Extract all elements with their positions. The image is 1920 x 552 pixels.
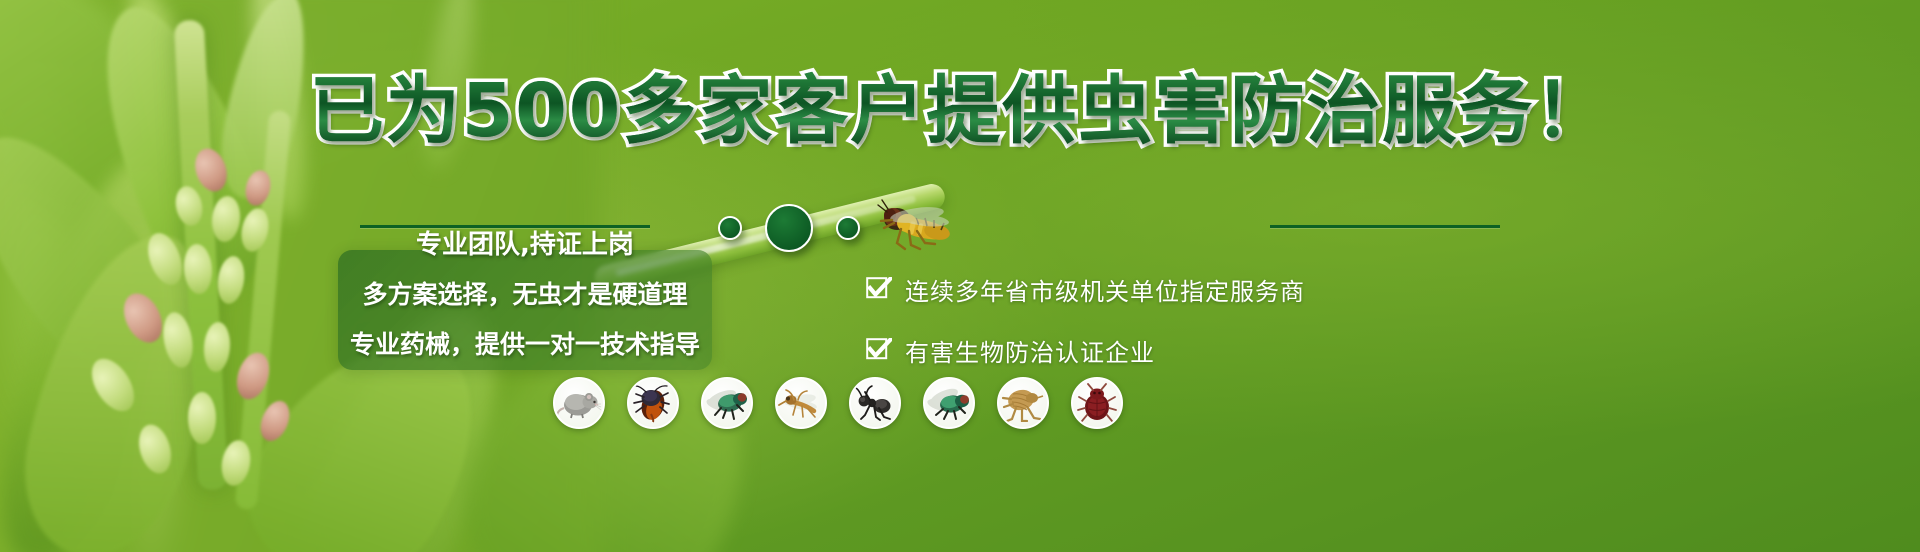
checklist-label-1: 连续多年省市级机关单位指定服务商 [905,272,1305,307]
promo-text-lines: 专业团队,持证上岗 多方案选择，无虫才是硬道理 专业药械，提供一对一技术指导 [338,210,712,361]
checklist-item-2: 有害生物防治认证企业 [866,333,1305,368]
flower-bud [218,438,254,488]
checklist-label-2: 有害生物防治认证企业 [905,333,1155,368]
flower-bud [215,254,247,305]
rat-icon [553,377,605,429]
decorative-dot-small-right [836,216,860,240]
checkbox-checked-icon [866,338,892,364]
checkbox-checked-icon [866,277,892,303]
decorative-dot-large [765,204,813,252]
mosquito-icon [775,377,827,429]
checklist-item-1: 连续多年省市级机关单位指定服务商 [866,272,1305,307]
flower-bud [188,392,216,444]
fly-icon [701,377,753,429]
promo-line-1: 专业团队,持证上岗 [416,224,634,261]
pest-icon-row [553,377,1123,429]
promo-line-3: 专业药械，提供一对一技术指导 [350,325,700,361]
promo-line-2: 多方案选择，无虫才是硬道理 [362,275,687,311]
plant-leaf [64,0,296,311]
ant-icon [849,377,901,429]
flower-bud [83,351,143,418]
flower-bud [231,349,274,404]
flower-bud [159,310,196,370]
page-title: 已为500多家客户提供虫害防治服务！ [0,72,1920,150]
plant-leaf [7,217,232,552]
divider-line-right [1270,225,1500,228]
promotional-banner: 已为500多家客户提供虫害防治服务！ 已为500多家客户提供虫害防治服务！ 专业… [0,0,1920,552]
flower-bud [116,287,169,349]
divider [0,200,1920,252]
flea-icon [997,377,1049,429]
decorative-dot-small-left [718,216,742,240]
blowfly-icon [923,377,975,429]
flower-bud [190,144,232,195]
headline-container: 已为500多家客户提供虫害防治服务！ 已为500多家客户提供虫害防治服务！ [0,72,1920,152]
flower-bud [255,397,295,446]
plant-stem [235,110,292,510]
bedbug-icon [1071,377,1123,429]
flower-bud [134,421,177,477]
feature-checklist: 连续多年省市级机关单位指定服务商 有害生物防治认证企业 [866,272,1305,368]
cockroach-icon [627,377,679,429]
flower-bud [202,321,231,373]
